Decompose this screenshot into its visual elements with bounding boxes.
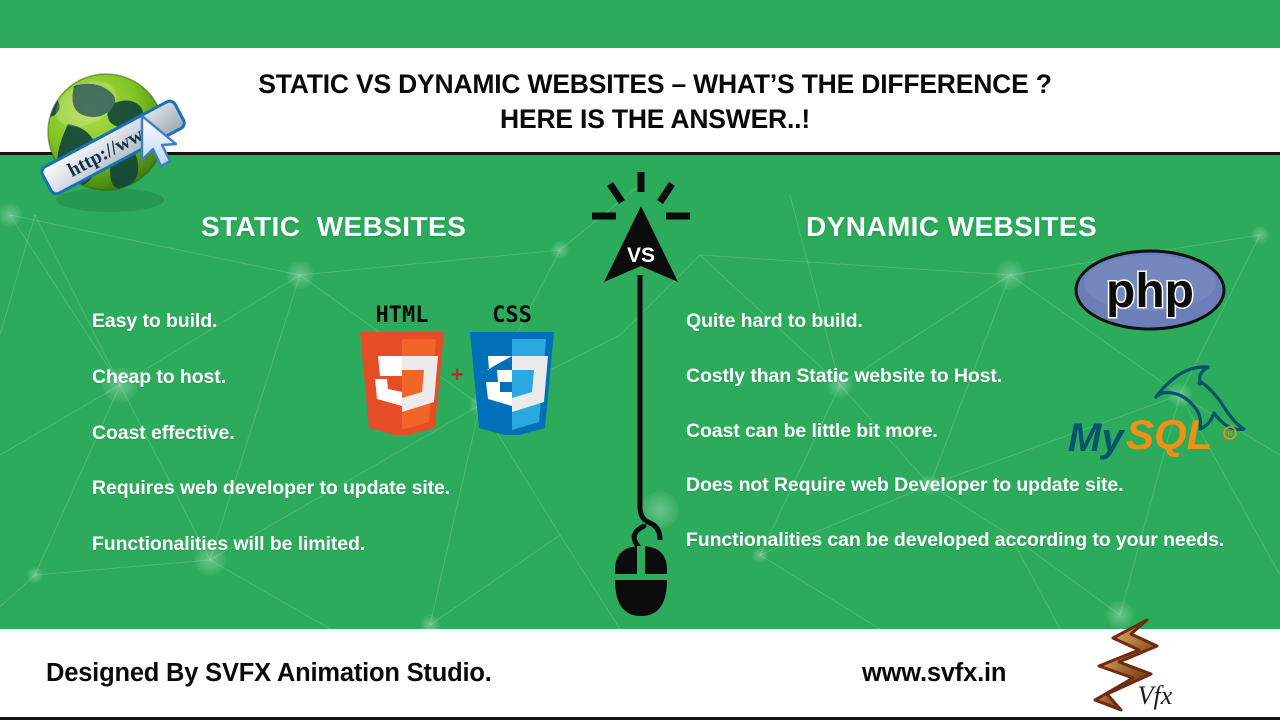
vs-label: VS [627, 244, 655, 267]
svfx-logo: Vfx [1069, 616, 1189, 716]
html5-wordmark: HTML [376, 303, 429, 328]
static-websites-heading: STATIC WEBSITES [201, 211, 466, 243]
css3-wordmark-text: CSS [492, 303, 532, 328]
footer-credit: Designed By SVFX Animation Studio. [46, 659, 492, 688]
registered-mark: R [1227, 431, 1232, 438]
footer-url[interactable]: www.svfx.in [862, 659, 1006, 688]
top-green-band [0, 0, 1280, 48]
list-item: Functionalities can be developed accordi… [686, 529, 1276, 553]
mouse-cord-line [625, 275, 665, 540]
infographic-poster: http://www. STATIC VS DYNAMIC WEBSITES –… [0, 0, 1280, 720]
css3-logo: CSS [462, 300, 562, 435]
globe-http-www-icon: http://www. [24, 52, 214, 222]
list-item: Functionalities will be limited. [92, 533, 592, 557]
page-title: STATIC VS DYNAMIC WEBSITES – WHAT’S THE … [175, 48, 1135, 155]
php-logo: php [1074, 249, 1226, 331]
list-item: Requires web developer to update site. [92, 477, 592, 501]
mysql-wordmark-my: My [1068, 416, 1125, 460]
title-line-2: HERE IS THE ANSWER..! [500, 102, 810, 136]
html5-logo: HTML [352, 300, 452, 435]
vs-cursor-arrow: VS [586, 170, 696, 290]
list-item: Does not Require web Developer to update… [686, 474, 1276, 498]
dynamic-websites-heading: DYNAMIC WEBSITES [806, 211, 1097, 243]
computer-mouse-icon [600, 524, 682, 619]
php-wordmark: php [1106, 265, 1194, 318]
mysql-wordmark-sql: SQL [1126, 411, 1212, 459]
plus-sign: + [446, 364, 468, 386]
title-line-1: STATIC VS DYNAMIC WEBSITES – WHAT’S THE … [258, 67, 1051, 101]
mysql-logo: My SQL R [1052, 355, 1252, 465]
svfx-vfx-text: Vfx [1138, 681, 1173, 710]
